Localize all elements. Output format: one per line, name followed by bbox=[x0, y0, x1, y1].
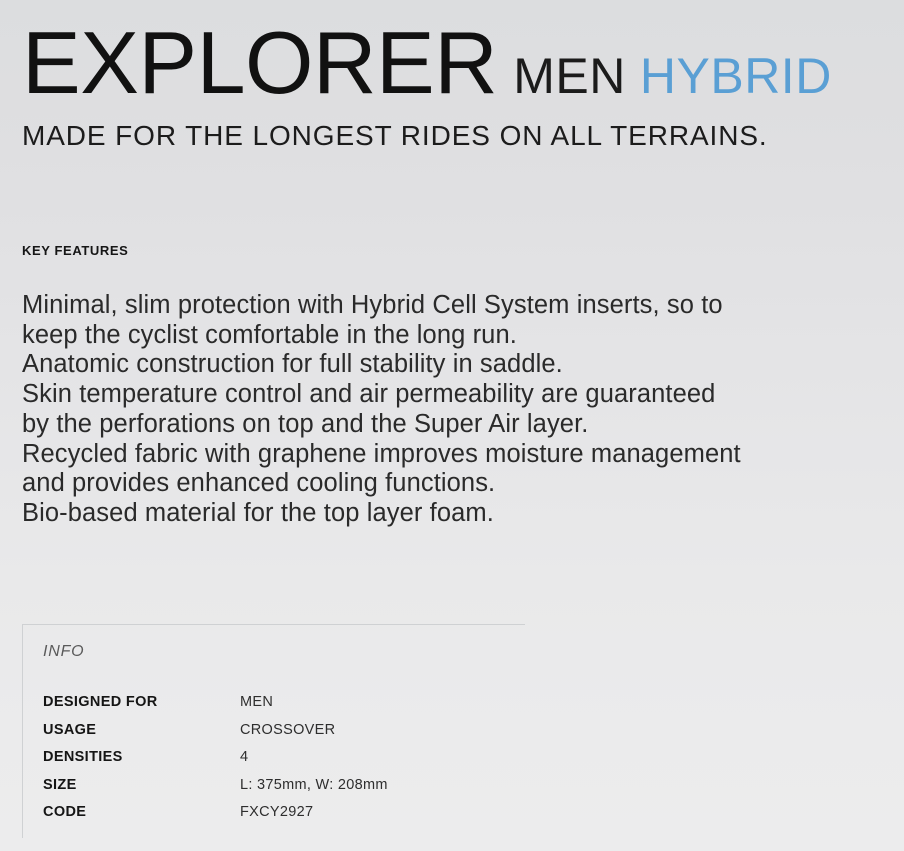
info-panel: INFO DESIGNED FOR MEN USAGE CROSSOVER DE… bbox=[22, 624, 525, 838]
feature-line: Skin temperature control and air permeab… bbox=[22, 380, 884, 410]
feature-line: Recycled fabric with graphene improves m… bbox=[22, 440, 884, 470]
table-row: CODE FXCY2927 bbox=[43, 799, 388, 827]
page-title: EXPLORERMENHYBRID bbox=[22, 18, 884, 108]
product-tagline: MADE FOR THE LONGEST RIDES ON ALL TERRAI… bbox=[22, 120, 884, 152]
info-table: DESIGNED FOR MEN USAGE CROSSOVER DENSITI… bbox=[43, 689, 388, 827]
key-features-body: Minimal, slim protection with Hybrid Cel… bbox=[22, 291, 884, 529]
info-key: CODE bbox=[43, 799, 240, 827]
table-row: DENSITIES 4 bbox=[43, 744, 388, 772]
key-features-section: KEY FEATURES Minimal, slim protection wi… bbox=[22, 243, 884, 529]
info-value: 4 bbox=[240, 744, 388, 772]
info-value: MEN bbox=[240, 689, 388, 717]
table-row: SIZE L: 375mm, W: 208mm bbox=[43, 772, 388, 800]
table-row: USAGE CROSSOVER bbox=[43, 717, 388, 745]
info-panel-heading: INFO bbox=[43, 643, 84, 661]
feature-line: Bio-based material for the top layer foa… bbox=[22, 499, 884, 529]
product-variant: HYBRID bbox=[640, 51, 832, 102]
info-value: FXCY2927 bbox=[240, 799, 388, 827]
product-spec-page: EXPLORERMENHYBRID MADE FOR THE LONGEST R… bbox=[0, 0, 904, 851]
info-value: L: 375mm, W: 208mm bbox=[240, 772, 388, 800]
feature-line: keep the cyclist comfortable in the long… bbox=[22, 321, 884, 351]
feature-line: Minimal, slim protection with Hybrid Cel… bbox=[22, 291, 884, 321]
info-key: USAGE bbox=[43, 717, 240, 745]
info-value: CROSSOVER bbox=[240, 717, 388, 745]
feature-line: and provides enhanced cooling functions. bbox=[22, 469, 884, 499]
feature-line: by the perforations on top and the Super… bbox=[22, 410, 884, 440]
info-key: DENSITIES bbox=[43, 744, 240, 772]
product-header: EXPLORERMENHYBRID MADE FOR THE LONGEST R… bbox=[22, 18, 884, 152]
product-gender: MEN bbox=[513, 51, 626, 102]
info-key: SIZE bbox=[43, 772, 240, 800]
product-name: EXPLORER bbox=[22, 18, 497, 108]
info-key: DESIGNED FOR bbox=[43, 689, 240, 717]
key-features-heading: KEY FEATURES bbox=[22, 243, 884, 258]
feature-line: Anatomic construction for full stability… bbox=[22, 350, 884, 380]
table-row: DESIGNED FOR MEN bbox=[43, 689, 388, 717]
